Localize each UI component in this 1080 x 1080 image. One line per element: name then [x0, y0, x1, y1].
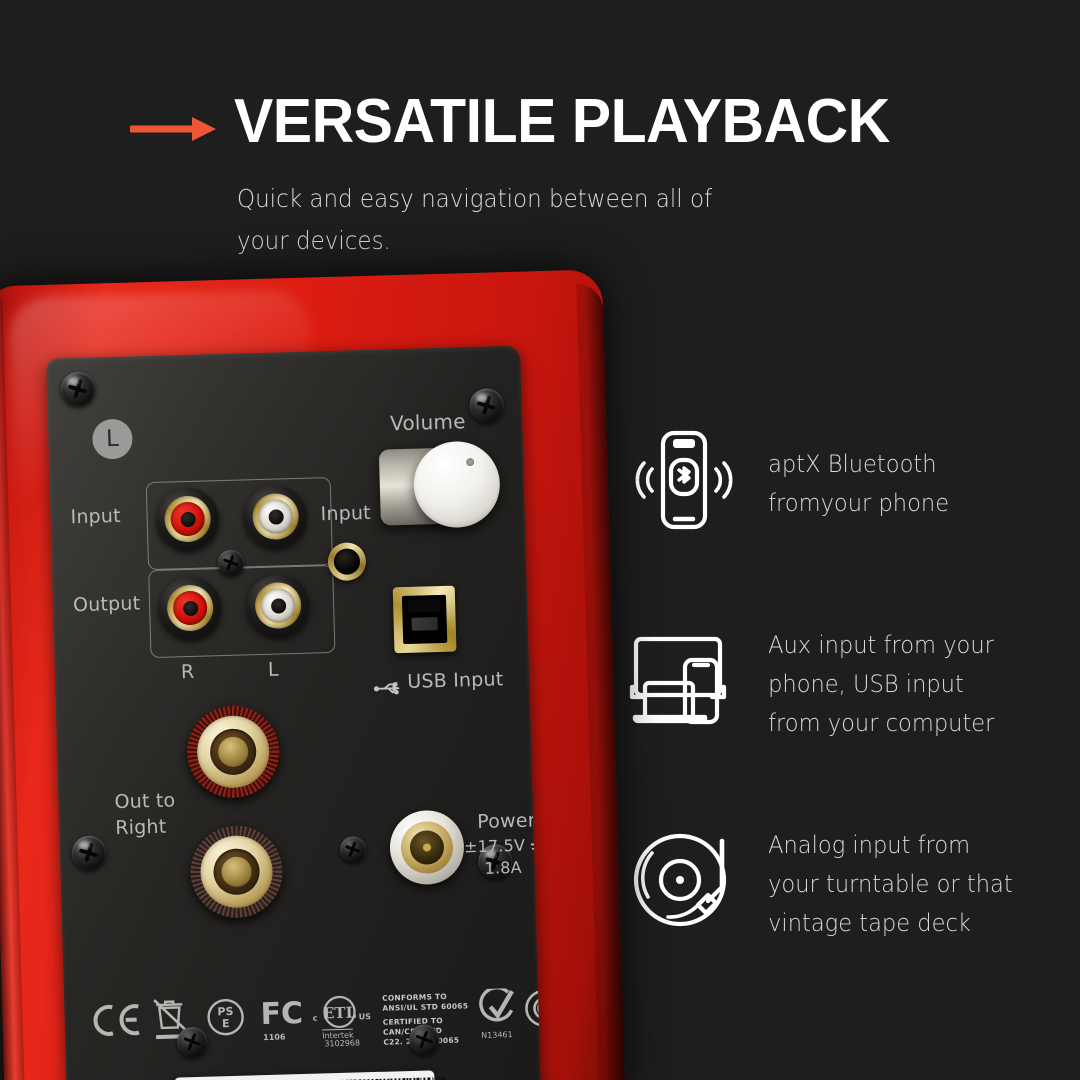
turntable-icon [628, 825, 738, 935]
panel-screw-top-left [61, 372, 96, 407]
panel-screw-bottom-left [72, 835, 107, 870]
volume-label: Volume [390, 409, 466, 435]
bluetooth-phone-icon [628, 425, 738, 535]
arrow-right-icon [130, 114, 220, 144]
feature-analog-line-2: your turntable or that [768, 865, 1013, 904]
feature-analog-line-3: vintage tape deck [768, 904, 1013, 943]
page-title: VERSATILE PLAYBACK [234, 86, 890, 157]
usb-b-port[interactable] [393, 586, 457, 654]
speaker-out-line-2: Right [115, 813, 176, 841]
conformance-line-2: ANSI/UL STD 60065 [382, 1001, 468, 1013]
feature-bluetooth-line-1: aptX Bluetooth [768, 445, 949, 484]
feature-item-analog: Analog input from your turntable or that… [628, 825, 1030, 943]
feature-analog-line-1: Analog input from [768, 826, 1013, 865]
subtitle-line-1: Quick and easy navigation between all of [237, 178, 715, 220]
connection-panel: L Input Output R L Input Volume [46, 346, 541, 1080]
aux-35mm-jack[interactable] [327, 542, 366, 581]
usb-input-label: USB Input [407, 668, 504, 693]
feature-aux-line-3: from your computer [768, 704, 994, 743]
svg-text:FC: FC [260, 996, 303, 1031]
rca-left-label: L [268, 659, 279, 681]
feature-text-analog: Analog input from your turntable or that… [738, 825, 1013, 943]
svg-text:E: E [222, 1017, 230, 1030]
feature-item-aux-usb: Aux input from your phone, USB input fro… [628, 625, 1011, 743]
speaker-out-label: Out to Right [114, 787, 176, 841]
panel-screw-top-right [469, 388, 504, 423]
barcode-label: A2+15042600052R [174, 1070, 436, 1080]
intertek-number: 3102968 [324, 1038, 360, 1048]
fcc-mark-icon: FC [260, 996, 307, 1035]
subtitle-line-2: your devices. [237, 220, 715, 262]
svg-text:ETL: ETL [323, 1003, 357, 1022]
volume-knob-indicator [466, 458, 474, 466]
page-subtitle: Quick and easy navigation between all of… [237, 178, 715, 262]
ce-mark-icon [90, 1002, 143, 1041]
panel-screw-power [340, 836, 367, 863]
devices-monitor-laptop-phone-icon [628, 625, 738, 735]
usb-trident-icon [373, 679, 404, 703]
power-current-label: 1.8A [484, 858, 522, 878]
binding-post-positive[interactable] [184, 703, 283, 802]
etl-c-marker: c [313, 1014, 318, 1023]
binding-post-negative[interactable] [187, 822, 286, 921]
etl-us-marker: US [359, 1012, 372, 1021]
rca-output-label: Output [73, 592, 141, 616]
feature-text-bluetooth: aptX Bluetooth fromyour phone [738, 425, 949, 523]
rca-input-label: Input [70, 505, 121, 528]
speaker-out-line-1: Out to [114, 787, 175, 815]
fcc-number: 1106 [263, 1032, 286, 1042]
feature-text-aux-usb: Aux input from your phone, USB input fro… [738, 625, 994, 743]
cabinet-right-edge [576, 283, 625, 1080]
feature-bluetooth-line-2: fromyour phone [768, 484, 949, 523]
dc-power-jack[interactable] [389, 809, 465, 885]
certification-marks-row: PS E FC 1106 ETL [90, 985, 541, 1068]
aux-input-label: Input [320, 502, 371, 525]
feature-item-bluetooth: aptX Bluetooth fromyour phone [628, 425, 963, 535]
speaker-back-panel-photo: L Input Output R L Input Volume [0, 269, 625, 1080]
rca-right-label: R [181, 661, 195, 683]
channel-badge-left: L [92, 419, 133, 460]
infographic-page: VERSATILE PLAYBACK Quick and easy naviga… [0, 0, 1080, 1080]
feature-aux-line-1: Aux input from your [768, 626, 994, 665]
pse-mark-icon: PS E [206, 998, 245, 1041]
power-label: Power [477, 809, 536, 833]
feature-aux-line-2: phone, USB input [768, 665, 994, 704]
power-voltage-label: ±17.5V [464, 835, 542, 856]
rcm-mark-icon [478, 988, 517, 1033]
rcm-number: N13461 [481, 1030, 513, 1040]
